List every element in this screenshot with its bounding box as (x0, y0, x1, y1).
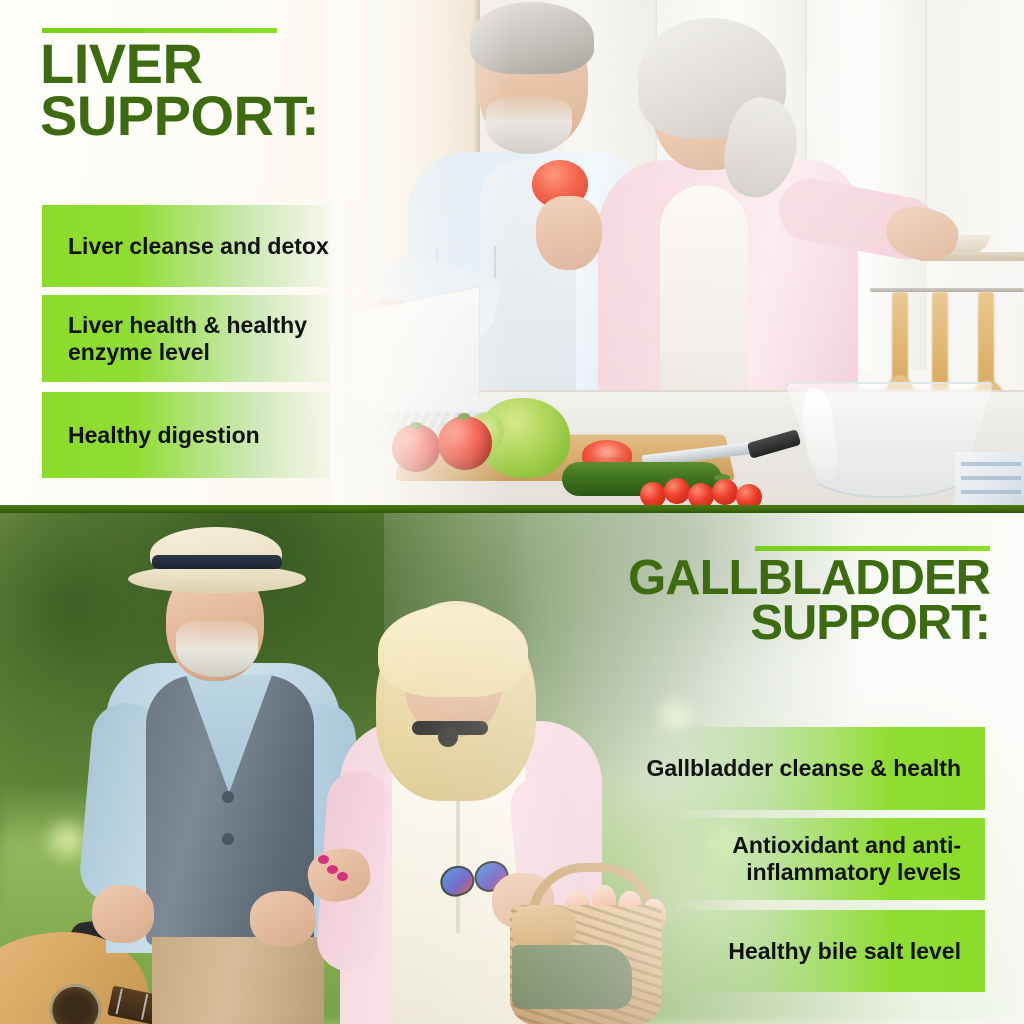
basket-cloth (512, 945, 632, 1009)
kitchen-towel (955, 452, 1024, 505)
man-hair (470, 2, 594, 74)
jumpsuit-zipper (456, 783, 460, 933)
liver-bullet-3-label: Healthy digestion (68, 422, 260, 449)
gallbladder-headline: GALLBLADDER SUPPORT: (430, 556, 990, 646)
man2-beard (176, 621, 258, 677)
gallbladder-bullet-1: Gallbladder cleanse & health (619, 727, 985, 810)
gallbladder-bullet-2: Antioxidant and anti-inflammatory levels (619, 818, 985, 900)
section-divider (0, 505, 1024, 513)
man2-hand-right (250, 891, 316, 947)
vest-button (222, 791, 234, 803)
choker-necklace (412, 721, 488, 735)
cherry-tomato (712, 479, 738, 505)
hat-band (152, 555, 282, 569)
gallbladder-bullet-2-label: Antioxidant and anti-inflammatory levels (619, 832, 961, 886)
liver-headline-line2: SUPPORT: (40, 90, 480, 142)
lettuce (478, 398, 570, 478)
tomato (438, 416, 492, 470)
tomato (392, 424, 440, 472)
gallbladder-bullet-3-label: Healthy bile salt level (728, 938, 961, 965)
liver-headline: LIVER SUPPORT: (40, 38, 480, 141)
painted-nails (318, 855, 329, 864)
man-beard (486, 96, 572, 154)
vest-button (222, 833, 234, 845)
liver-support-panel: LIVER SUPPORT: Liver cleanse and detox L… (0, 0, 1024, 505)
liver-bullet-1-label: Liver cleanse and detox (68, 233, 329, 260)
cherry-tomato-cluster (640, 478, 770, 505)
gallbladder-bullet-3: Healthy bile salt level (619, 910, 985, 992)
liver-bullet-3: Healthy digestion (42, 392, 372, 478)
woman-camisole (660, 185, 748, 395)
cherry-tomato (736, 484, 762, 505)
tomato-stem (458, 413, 470, 420)
tomato-stem (410, 422, 422, 429)
woman-hand-holding-tomato (536, 196, 602, 270)
cherry-tomato (640, 482, 666, 505)
cherry-tomato (664, 478, 690, 504)
liver-bullet-2: Liver health & healthy enzyme level (42, 295, 372, 382)
infographic-root: LIVER SUPPORT: Liver cleanse and detox L… (0, 0, 1024, 1024)
gallbladder-headline-line2: SUPPORT: (430, 601, 990, 646)
man2-hand-left (92, 885, 154, 943)
liver-bullet-2-label: Liver health & healthy enzyme level (68, 312, 372, 366)
straw-hat (150, 527, 282, 581)
man2-trousers (152, 937, 324, 1024)
cherry-tomato (688, 483, 714, 505)
liver-bullet-1: Liver cleanse and detox (42, 205, 372, 287)
gallbladder-bullet-1-label: Gallbladder cleanse & health (647, 755, 961, 782)
